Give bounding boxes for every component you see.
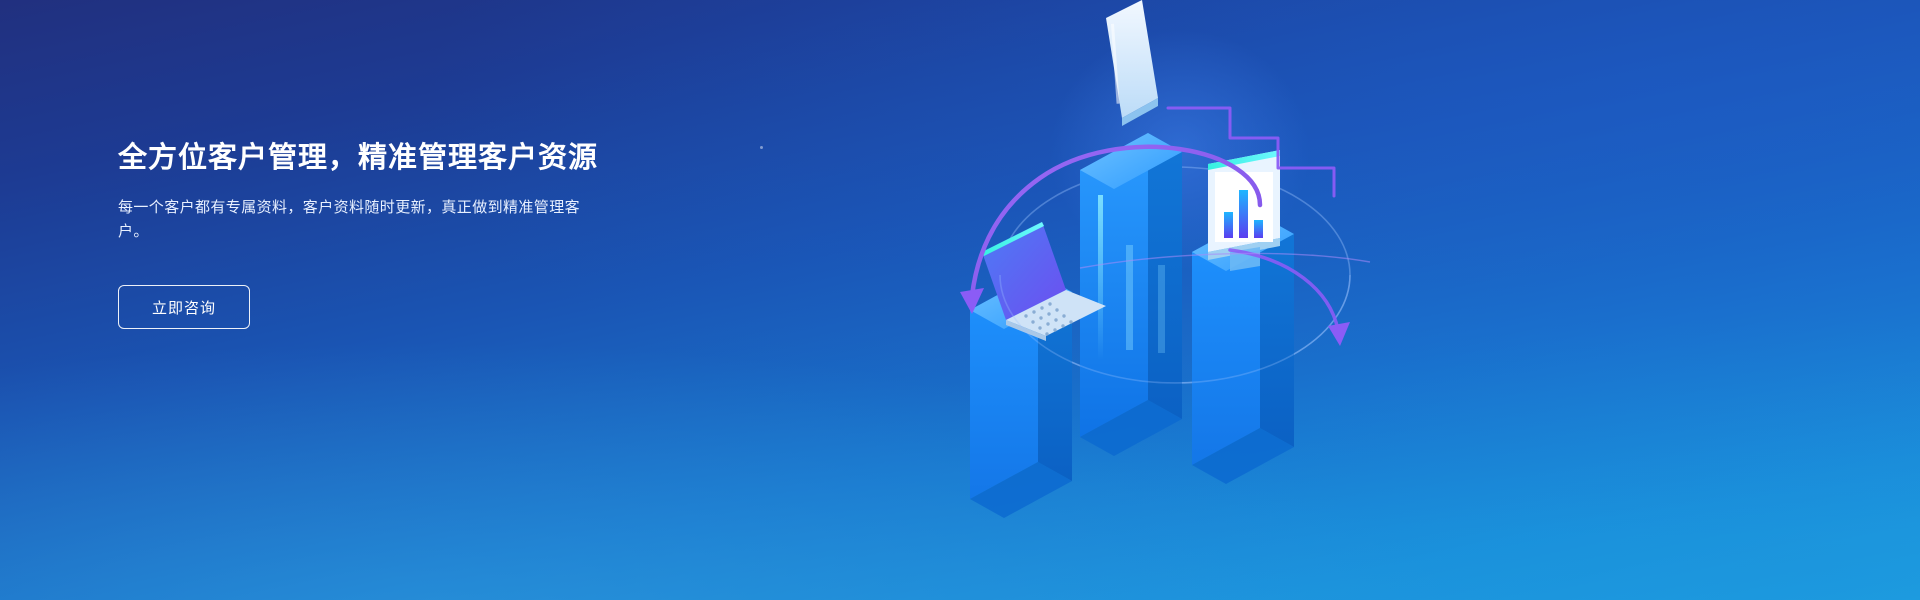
hero-illustration: [930, 0, 1450, 600]
sparkle-dot-icon: [760, 146, 763, 149]
page-title: 全方位客户管理，精准管理客户资源: [118, 140, 678, 178]
accent-line-1: [1098, 195, 1103, 360]
accent-line-3: [1158, 265, 1165, 353]
hero-banner: 全方位客户管理，精准管理客户资源 每一个客户都有专属资料，客户资料随时更新，真正…: [0, 0, 1920, 600]
hero-copy: 全方位客户管理，精准管理客户资源 每一个客户都有专属资料，客户资料随时更新，真正…: [118, 140, 678, 329]
consult-now-button[interactable]: 立即咨询: [118, 285, 250, 329]
hero-subtitle: 每一个客户都有专属资料，客户资料随时更新，真正做到精准管理客户。: [118, 196, 603, 246]
pillar-center: [1080, 133, 1182, 456]
